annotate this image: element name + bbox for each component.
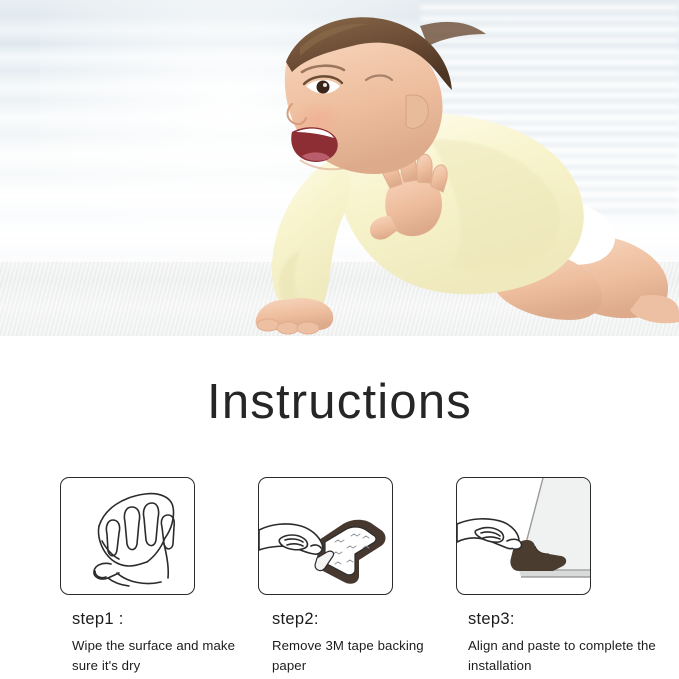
hero-photo <box>0 0 679 336</box>
step-3-label: step3: <box>468 610 591 629</box>
hand-pressing-guard-on-table-icon <box>457 478 591 595</box>
step-2-illustration-panel <box>258 477 393 595</box>
step-3-illustration-panel <box>456 477 591 595</box>
baby-illustration <box>0 0 679 336</box>
step-item-3: step3: Align and paste to complete the i… <box>456 477 591 677</box>
hand-wiping-cloth-icon <box>61 478 195 595</box>
hand-peeling-tape-backing-icon <box>259 478 393 595</box>
step-2-label: step2: <box>272 610 393 629</box>
step-item-1: step1 : Wipe the surface and make sure i… <box>60 477 195 677</box>
instructions-section: Instructions <box>0 336 679 679</box>
steps-row: step1 : Wipe the surface and make sure i… <box>0 477 679 677</box>
instructions-page: Instructions <box>0 0 679 679</box>
step-1-description: Wipe the surface and make sure it's dry <box>72 636 252 677</box>
page-title: Instructions <box>0 378 679 427</box>
step-1-label: step1 : <box>72 610 195 629</box>
step-3-description: Align and paste to complete the installa… <box>468 636 668 677</box>
step-2-description: Remove 3M tape backing paper <box>272 636 452 677</box>
step-item-2: step2: Remove 3M tape backing paper <box>258 477 393 677</box>
step-1-illustration-panel <box>60 477 195 595</box>
